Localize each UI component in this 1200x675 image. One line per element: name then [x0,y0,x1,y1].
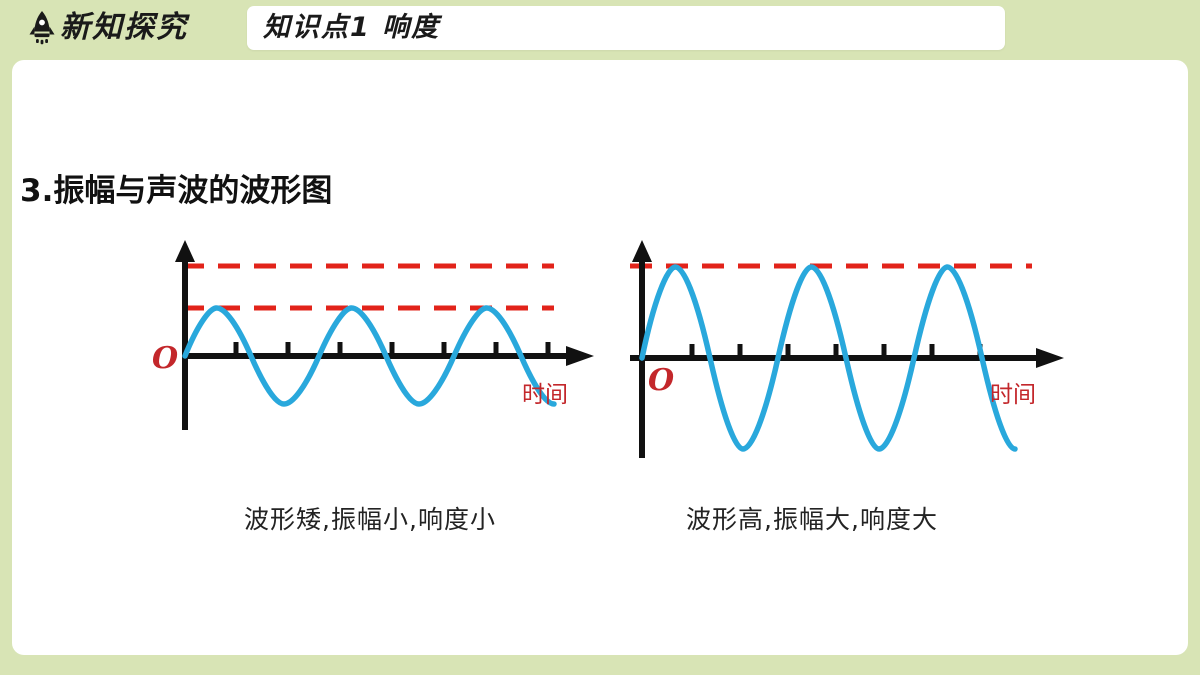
slide-root: 新知探究 知识点1 响度 3.振幅与声波的波形图 [0,0,1200,675]
x-axis-arrow [566,346,594,366]
y-axis-arrow [175,240,195,262]
waveform-chart-small-amplitude: O 时间 [142,240,602,500]
caption-large-amplitude: 波形高,振幅大,响度大 [582,500,1042,536]
header-title: 新知探究 [60,4,188,52]
x-axis-label: 时间 [522,382,568,408]
content-card: 3.振幅与声波的波形图 [12,60,1188,655]
waveform-chart-large-amplitude: O 时间 [612,240,1072,500]
x-axis-label: 时间 [990,382,1036,408]
header-topic-label: 知识点1 响度 [263,6,440,50]
y-axis-arrow [632,240,652,262]
header-topic-pill: 知识点1 响度 [247,6,1005,50]
slide-header: 新知探究 知识点1 响度 [0,0,1200,58]
caption-small-amplitude: 波形矮,振幅小,响度小 [140,500,600,536]
x-axis-arrow [1036,348,1064,368]
origin-label: O [648,363,674,398]
rocket-icon [22,9,62,49]
section-title: 3.振幅与声波的波形图 [20,165,332,210]
origin-label: O [152,341,178,376]
